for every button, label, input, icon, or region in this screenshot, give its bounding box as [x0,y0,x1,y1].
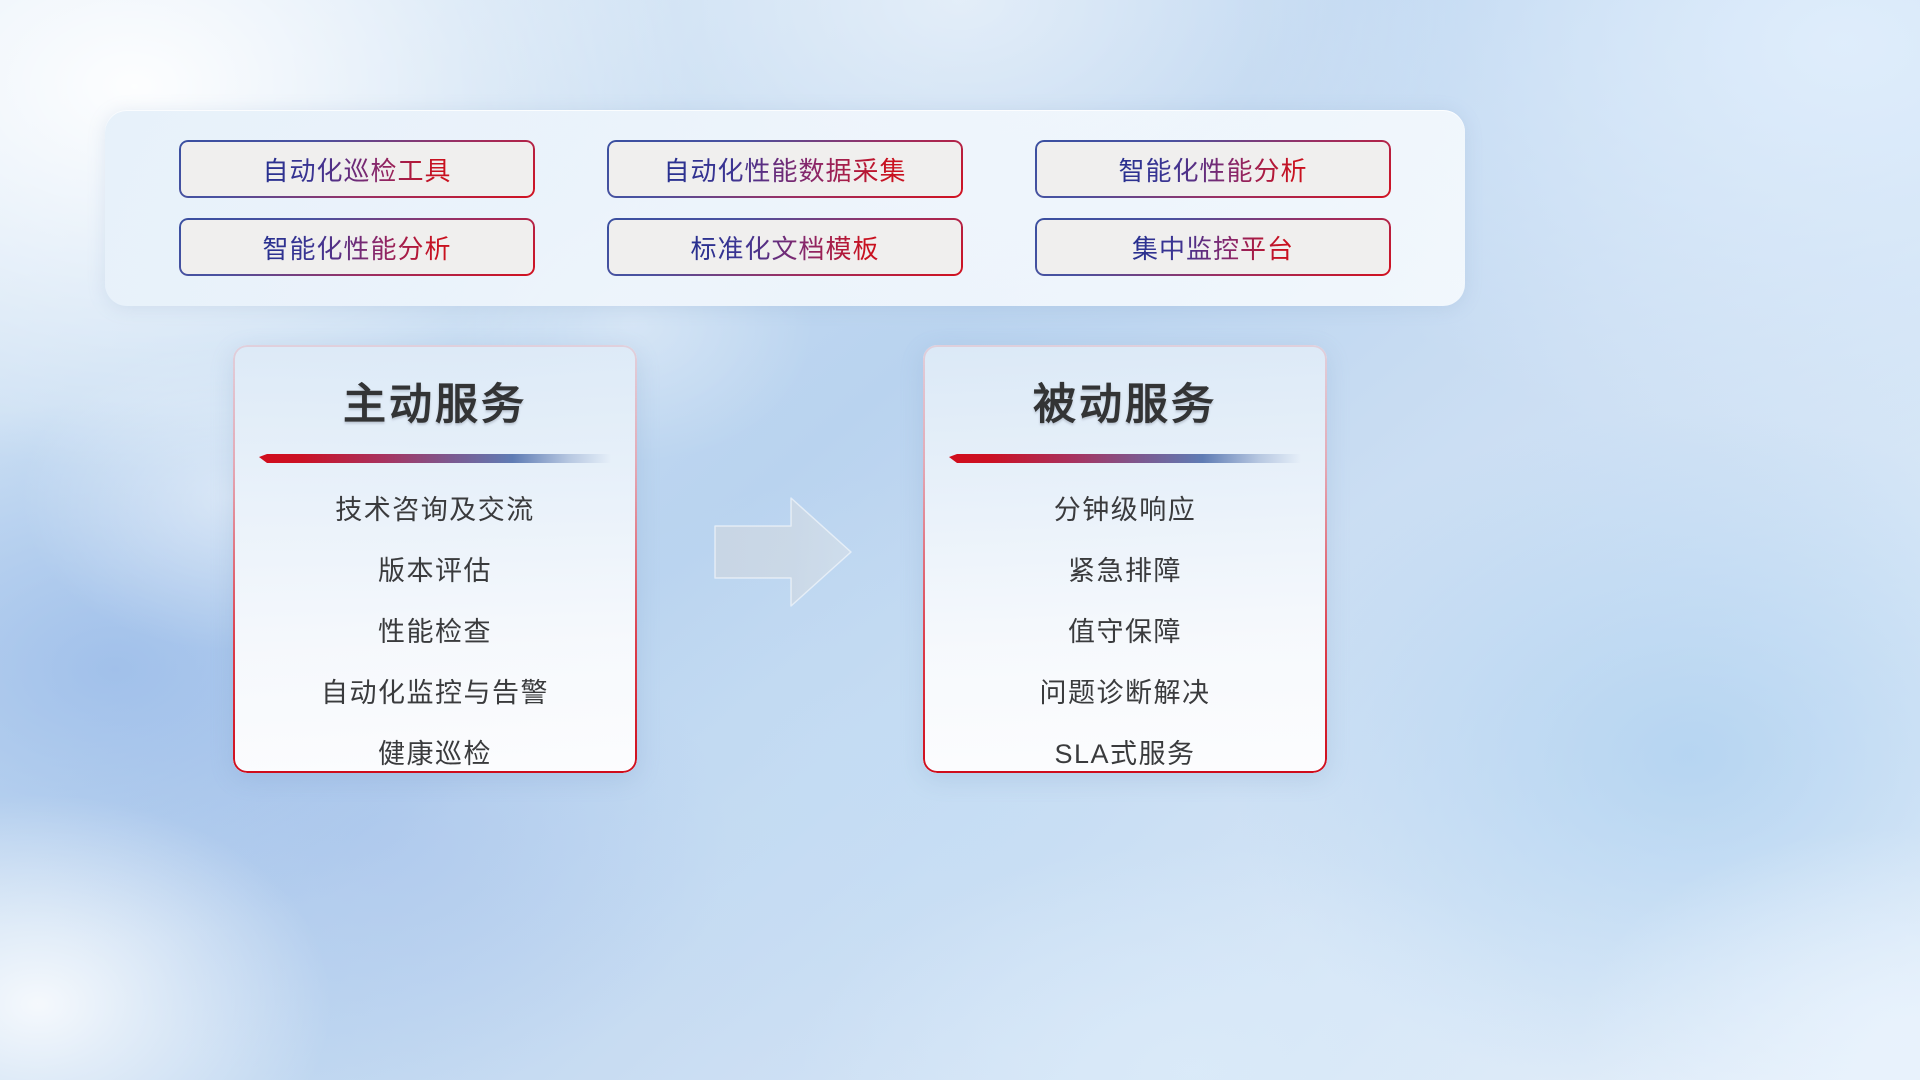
service-list: 技术咨询及交流 版本评估 性能检查 自动化监控与告警 健康巡检 [233,480,637,773]
list-item[interactable]: SLA式服务 [1054,724,1195,773]
service-card-title: 被动服务 [1033,370,1217,432]
capabilities-panel: 自动化巡检工具 自动化性能数据采集 智能化性能分析 智能化性能分析 标准化文档模… [105,110,1465,306]
list-item[interactable]: 性能检查 [378,602,492,663]
capability-pill-intelligent-performance-analysis-2[interactable]: 智能化性能分析 [179,218,535,276]
capability-pill-automated-performance-data-collection[interactable]: 自动化性能数据采集 [607,140,963,198]
capability-pill-label: 标准化文档模板 [690,229,879,266]
capability-pill-automated-inspection-tool[interactable]: 自动化巡检工具 [179,140,535,198]
right-arrow-icon [713,496,853,608]
capability-pill-label: 集中监控平台 [1132,229,1294,266]
list-item[interactable]: 健康巡检 [378,724,492,773]
title-divider-bar [949,454,1301,463]
service-card-title: 主动服务 [343,370,527,432]
service-card-passive[interactable]: 被动服务 分钟级响应 紧急排障 值守保障 问题诊断解决 SLA式服务 [923,345,1327,773]
capability-pill-centralized-monitoring-platform[interactable]: 集中监控平台 [1035,218,1391,276]
capability-pill-label: 智能化性能分析 [262,229,451,266]
list-item[interactable]: 值守保障 [1068,602,1182,663]
service-card-active[interactable]: 主动服务 技术咨询及交流 版本评估 性能检查 自动化监控与告警 健康巡检 [233,345,637,773]
list-item[interactable]: 技术咨询及交流 [335,480,535,541]
capability-pill-label: 自动化性能数据采集 [663,151,906,188]
service-card-inner: 主动服务 技术咨询及交流 版本评估 性能检查 自动化监控与告警 健康巡检 [233,345,637,773]
list-item[interactable]: 分钟级响应 [1054,480,1197,541]
capability-pill-label: 自动化巡检工具 [262,151,451,188]
capability-pill-label: 智能化性能分析 [1118,151,1307,188]
capabilities-row-2: 智能化性能分析 标准化文档模板 集中监控平台 [179,218,1391,276]
list-item[interactable]: 自动化监控与告警 [321,663,549,724]
capabilities-row-1: 自动化巡检工具 自动化性能数据采集 智能化性能分析 [179,140,1391,198]
service-list: 分钟级响应 紧急排障 值守保障 问题诊断解决 SLA式服务 [923,480,1327,773]
capability-pill-intelligent-performance-analysis[interactable]: 智能化性能分析 [1035,140,1391,198]
list-item[interactable]: 紧急排障 [1068,541,1182,602]
list-item[interactable]: 问题诊断解决 [1040,663,1211,724]
title-divider-bar [259,454,611,463]
capability-pill-standardized-document-template[interactable]: 标准化文档模板 [607,218,963,276]
service-card-inner: 被动服务 分钟级响应 紧急排障 值守保障 问题诊断解决 SLA式服务 [923,345,1327,773]
list-item[interactable]: 版本评估 [378,541,492,602]
